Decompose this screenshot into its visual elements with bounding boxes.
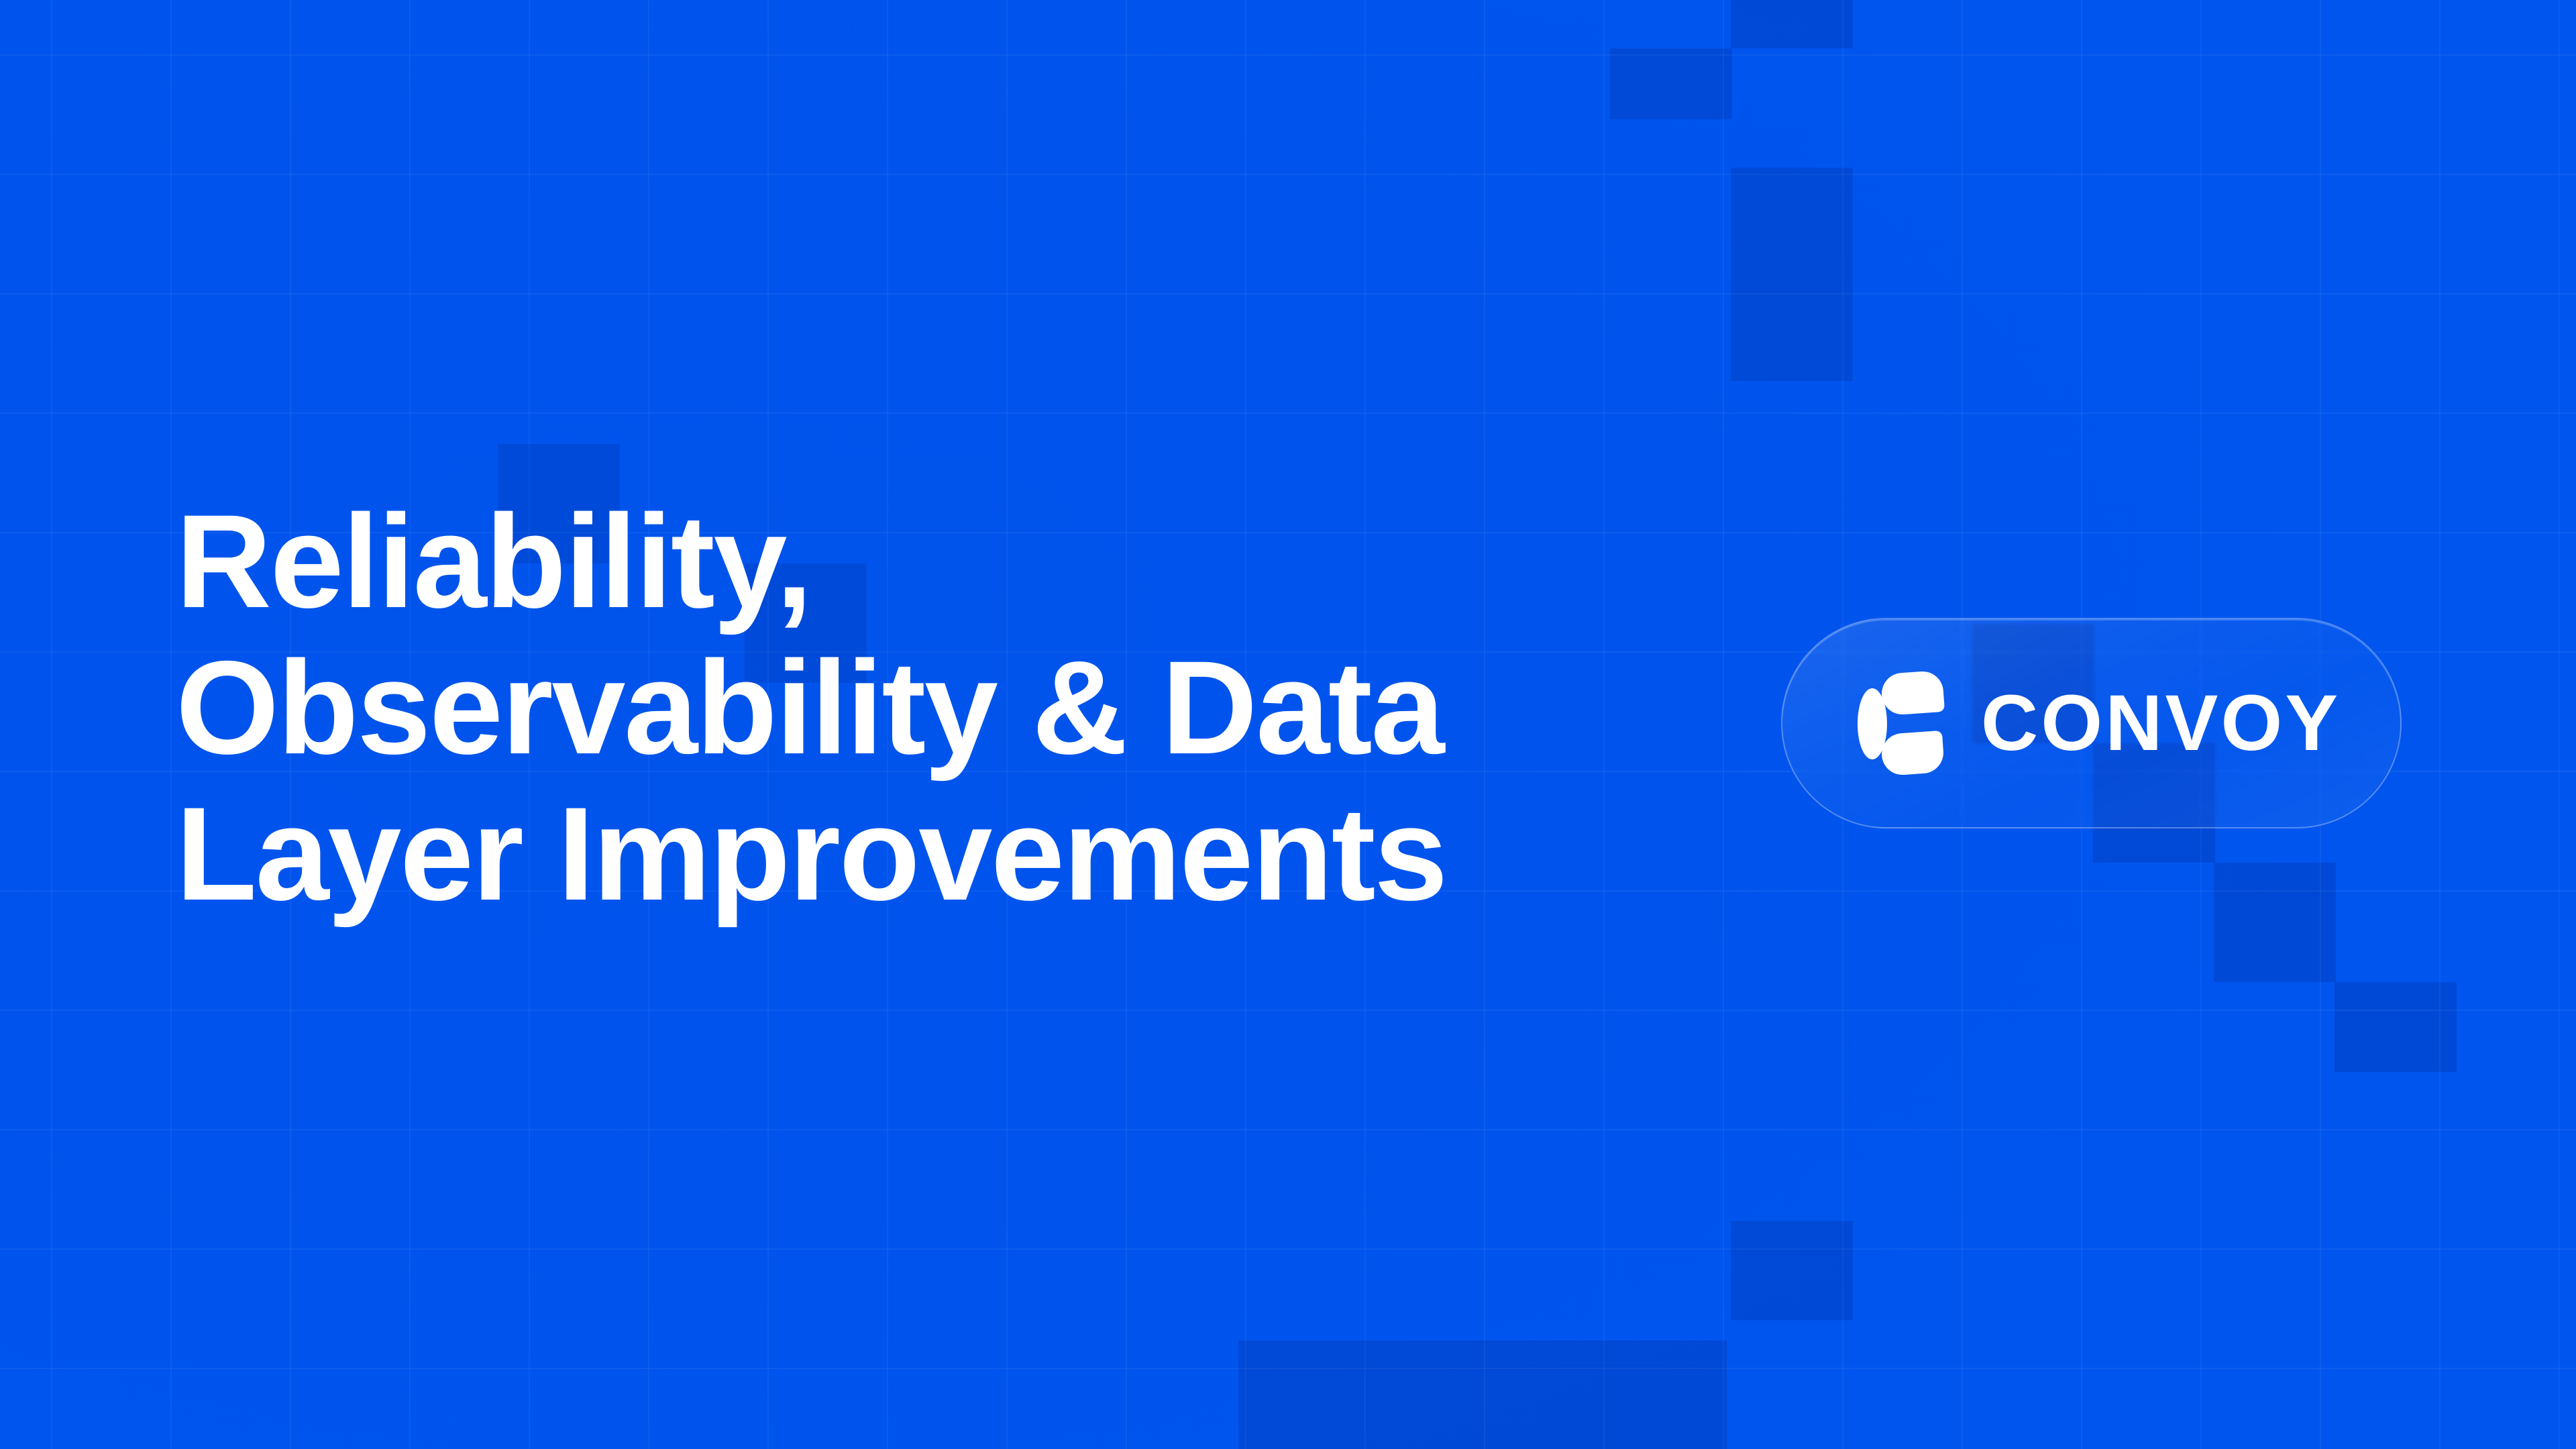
- convoy-c-logo-mark-icon: [1858, 672, 1942, 774]
- convoy-wordmark: CONVOY: [1981, 684, 2341, 763]
- logo-mark-arc-top-shape: [1880, 670, 1945, 716]
- convoy-logo-badge[interactable]: CONVOY: [1781, 618, 2402, 828]
- logo-mark-arc-bottom-shape: [1880, 731, 1945, 776]
- banner-canvas: Reliability, Observability & Data Layer …: [0, 0, 2576, 1449]
- page-title: Reliability, Observability & Data Layer …: [176, 488, 1585, 926]
